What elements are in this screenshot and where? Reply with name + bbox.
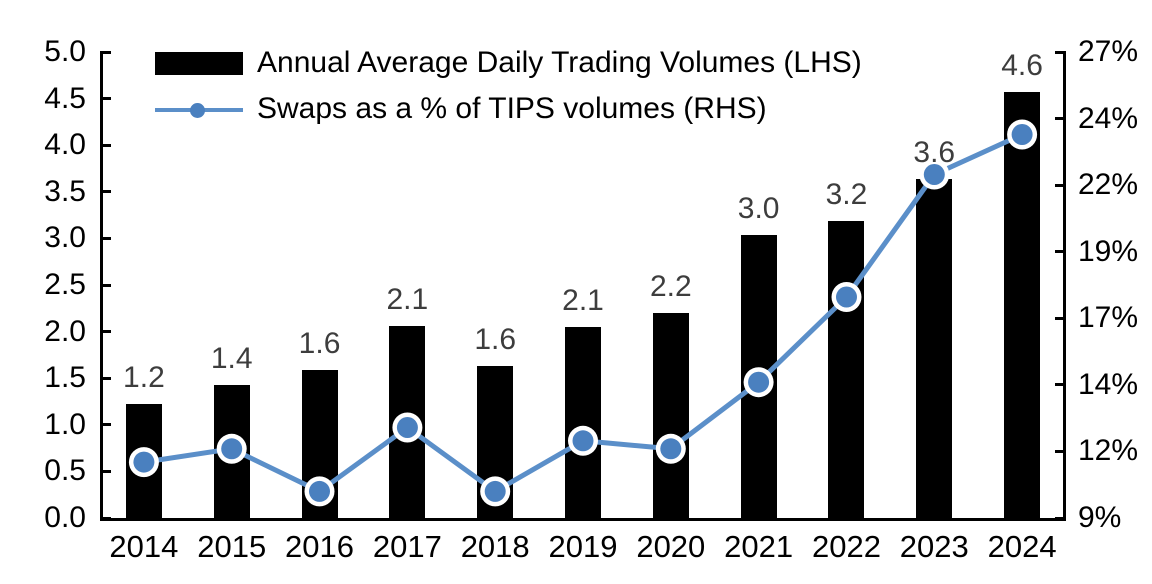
line-marker[interactable] <box>133 452 154 473</box>
line-marker[interactable] <box>309 481 330 502</box>
x-axis-category-label: 2022 <box>796 531 896 562</box>
bar-value-label: 1.6 <box>275 329 365 359</box>
x-axis-category-label: 2019 <box>533 531 633 562</box>
bar-value-label: 2.2 <box>626 272 716 302</box>
right-axis-tick-label: 9% <box>1078 503 1121 533</box>
line-marker[interactable] <box>748 372 769 393</box>
left-axis-tick-label: 3.0 <box>44 223 86 253</box>
right-axis-tick-label: 22% <box>1078 170 1138 200</box>
x-axis-category-label: 2023 <box>884 531 984 562</box>
left-axis-tick-label: 3.5 <box>44 177 86 207</box>
legend-item-bars[interactable]: Annual Average Daily Trading Volumes (LH… <box>155 40 915 86</box>
legend-bar-swatch-icon <box>155 52 243 75</box>
left-axis-tick-label: 4.5 <box>44 84 86 114</box>
x-axis-category-label: 2016 <box>270 531 370 562</box>
bar-value-label: 1.2 <box>99 363 189 393</box>
left-axis-tick-labels: 0.00.51.01.52.02.53.03.54.04.55.0 <box>14 0 86 584</box>
legend-line-marker-swatch-icon <box>155 98 243 121</box>
right-axis-tick-labels: 9%12%14%17%19%22%24%27% <box>1078 0 1152 584</box>
x-axis-category-label: 2021 <box>709 531 809 562</box>
x-axis-category-label: 2014 <box>94 531 194 562</box>
right-axis-tick-label: 12% <box>1078 436 1138 466</box>
left-axis-tick-label: 5.0 <box>44 37 86 67</box>
right-axis-tick-label: 19% <box>1078 237 1138 267</box>
x-axis-category-label: 2017 <box>357 531 457 562</box>
x-axis-category-label: 2024 <box>972 531 1072 562</box>
legend-item-label: Annual Average Daily Trading Volumes (LH… <box>257 48 862 78</box>
left-axis-tick-label: 0.5 <box>44 456 86 486</box>
x-axis-category-label: 2020 <box>621 531 721 562</box>
legend-item-label: Swaps as a % of TIPS volumes (RHS) <box>257 94 767 124</box>
left-axis-tick-label: 1.5 <box>44 363 86 393</box>
bar-value-label: 2.1 <box>362 285 452 315</box>
chart-container: 0.00.51.01.52.02.53.03.54.04.55.0 9%12%1… <box>0 0 1152 584</box>
bar-value-label: 1.6 <box>450 325 540 355</box>
line-marker[interactable] <box>1012 124 1033 145</box>
x-axis-category-label: 2018 <box>445 531 545 562</box>
bar-value-label: 3.0 <box>714 194 804 224</box>
bar-value-label: 3.2 <box>801 180 891 210</box>
legend-item-line[interactable]: Swaps as a % of TIPS volumes (RHS) <box>155 86 915 132</box>
left-axis-tick-label: 2.0 <box>44 317 86 347</box>
left-axis-tick-label: 0.0 <box>44 503 86 533</box>
left-axis-tick-label: 1.0 <box>44 410 86 440</box>
chart-legend: Annual Average Daily Trading Volumes (LH… <box>155 40 915 132</box>
x-axis-category-label: 2015 <box>182 531 282 562</box>
line-marker[interactable] <box>485 481 506 502</box>
right-axis-tick-label: 24% <box>1078 104 1138 134</box>
line-marker[interactable] <box>397 417 418 438</box>
line-marker[interactable] <box>836 287 857 308</box>
bar-value-label: 1.4 <box>187 344 277 374</box>
right-axis-tick-label: 27% <box>1078 37 1138 67</box>
left-axis-tick-label: 4.0 <box>44 130 86 160</box>
bar-value-label: 2.1 <box>538 286 628 316</box>
bar-value-label: 3.6 <box>889 138 979 168</box>
left-axis-tick-label: 2.5 <box>44 270 86 300</box>
x-axis-spine <box>100 518 1066 521</box>
line-marker[interactable] <box>221 438 242 459</box>
bar-value-label: 4.6 <box>977 51 1067 81</box>
right-axis-tick-label: 17% <box>1078 303 1138 333</box>
line-marker[interactable] <box>660 438 681 459</box>
line-marker[interactable] <box>573 430 594 451</box>
right-axis-tick-label: 14% <box>1078 370 1138 400</box>
